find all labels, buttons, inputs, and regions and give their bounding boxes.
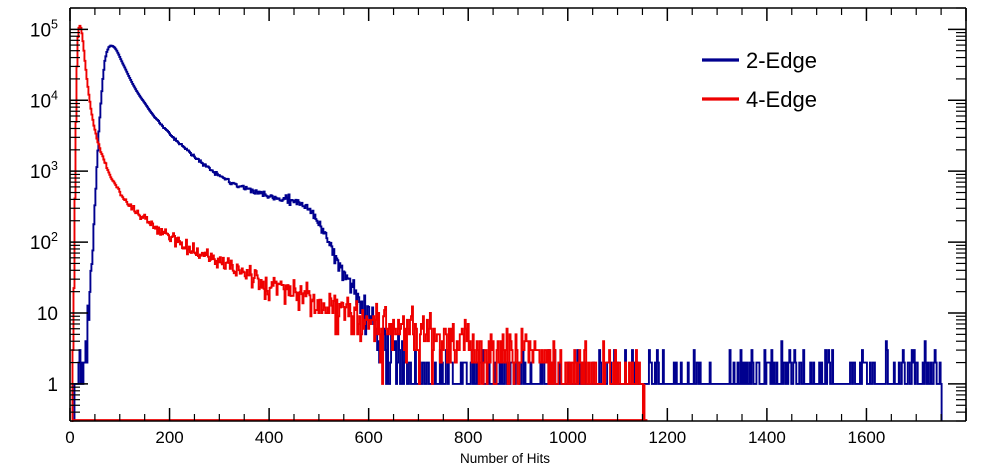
x-axis-title: Number of Hits: [460, 451, 550, 466]
x-tick-label: 1200: [648, 428, 686, 447]
plot-background: [0, 0, 996, 472]
legend-label-2-edge: 2-Edge: [746, 48, 817, 73]
legend-label-4-edge: 4-Edge: [746, 87, 817, 112]
x-tick-label: 400: [255, 428, 283, 447]
y-tick-label: 10: [37, 304, 58, 325]
x-tick-label: 1000: [549, 428, 587, 447]
x-tick-label: 200: [155, 428, 183, 447]
histogram-plot-canvas: 110102103104105 020040060080010001200140…: [0, 0, 996, 472]
x-tick-label: 1600: [848, 428, 886, 447]
y-tick-label: 1: [47, 375, 58, 396]
x-tick-label: 0: [65, 428, 74, 447]
x-tick-label: 600: [354, 428, 382, 447]
chart-svg: 110102103104105 020040060080010001200140…: [0, 0, 996, 472]
x-tick-label: 1400: [748, 428, 786, 447]
x-tick-label: 800: [454, 428, 482, 447]
